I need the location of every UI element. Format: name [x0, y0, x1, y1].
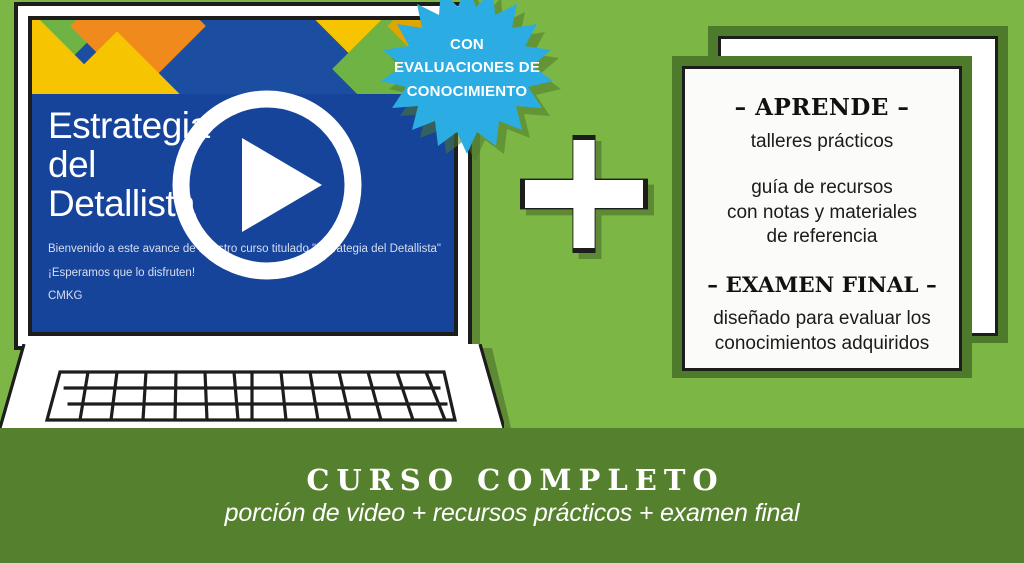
card-line-referencia: de referencia [767, 225, 878, 249]
card-line-notas: con notas y materiales [727, 201, 917, 225]
banner-title: CURSO COMPLETO [299, 466, 724, 495]
card-line-talleres: talleres prácticos [751, 130, 894, 154]
card-heading-aprende: – APRENDE – [735, 94, 910, 121]
promo-banner-image: Estrategia del Detallista Bienvenido a e… [0, 0, 1024, 563]
laptop-keyboard [0, 344, 504, 428]
card-heading-examen: – EXAMEN FINAL – [707, 273, 937, 298]
starburst-badge [381, 0, 553, 154]
plus-sign: + [520, 135, 660, 265]
card-line-disenado: diseñado para evaluar los [713, 307, 931, 331]
features-card-stack: – APRENDE – talleres prácticos guía de r… [672, 26, 1012, 381]
plus-fill [525, 140, 643, 248]
card-line-guia: guía de recursos [751, 176, 893, 200]
banner-subtitle: porción de video + recursos prácticos + … [225, 501, 800, 526]
bottom-banner: CURSO COMPLETO porción de video + recurs… [0, 428, 1024, 563]
card-line-conocimientos: conocimientos adquiridos [715, 332, 929, 356]
card-front-sheet: – APRENDE – talleres prácticos guía de r… [682, 66, 962, 371]
play-button[interactable] [162, 80, 372, 290]
